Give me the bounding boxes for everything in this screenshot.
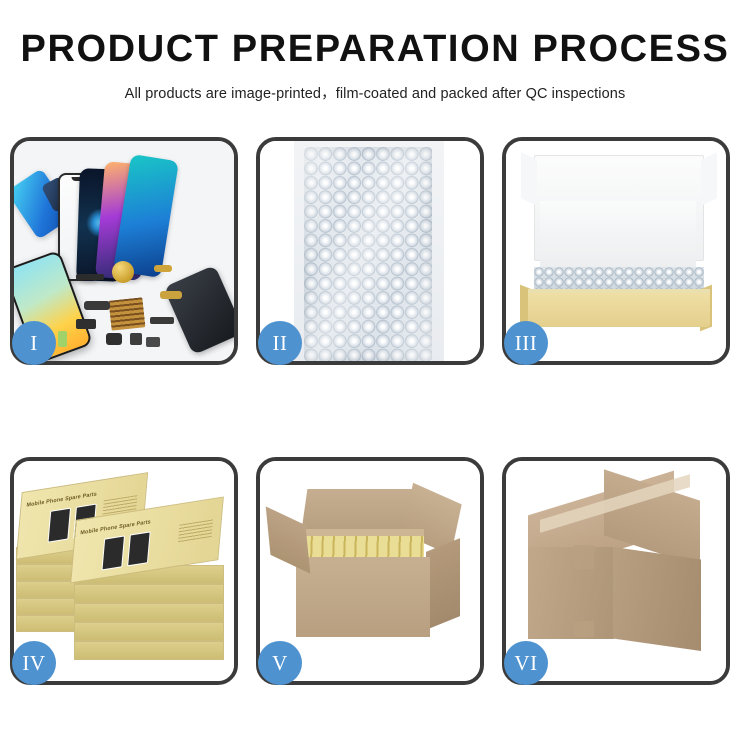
connector-part-icon	[84, 301, 110, 310]
box-spec-lines	[178, 519, 213, 543]
carton-front-left-face	[528, 547, 614, 639]
tape-tab-upper	[574, 545, 594, 569]
carton-side-face	[426, 538, 460, 630]
stacked-box-edge	[74, 603, 224, 622]
speaker-component-icon	[112, 261, 134, 283]
stacked-box-edge	[74, 641, 224, 660]
step-panel-bubble-wrap: II	[256, 137, 484, 365]
step-badge-1: I	[12, 321, 56, 365]
chip-grid-icon	[109, 297, 146, 330]
carton-front-face	[296, 557, 430, 637]
box-artwork-screen	[127, 531, 151, 566]
stacked-box-edge	[74, 622, 224, 641]
step-panel-inner-box: III	[502, 137, 730, 365]
page-header: PRODUCT PREPARATION PROCESS All products…	[0, 0, 750, 103]
step-panel-products: I	[10, 137, 238, 365]
step-badge-3: III	[504, 321, 548, 365]
step-panel-carton-loading: V	[256, 457, 484, 685]
step-panel-stacked-boxes: Mobile Phone Spare PartsMobile Phone Spa…	[10, 457, 238, 685]
button-part-icon	[146, 337, 160, 347]
ribbon-part-icon	[150, 317, 174, 324]
earpiece-part-icon	[76, 274, 104, 280]
flex-cable-2-icon	[160, 291, 182, 299]
carton-front-right-face	[613, 547, 701, 651]
battery-part-icon	[58, 331, 67, 347]
foam-sheet	[540, 201, 696, 269]
box-front-face	[528, 293, 710, 327]
small-part-icon	[76, 319, 96, 329]
step-badge-6: VI	[504, 641, 548, 685]
box-artwork-screen	[101, 535, 125, 570]
box-artwork-screen	[48, 508, 72, 543]
stacked-box-edge	[74, 584, 224, 603]
process-steps-grid: I II III Mobile Phone Spare PartsMobile …	[10, 137, 740, 685]
camera-part-icon	[106, 333, 122, 345]
step-badge-5: V	[258, 641, 302, 685]
page-subtitle: All products are image-printed，film-coat…	[0, 82, 750, 103]
bubble-sheet	[304, 147, 432, 361]
carton-rim	[296, 529, 424, 536]
phone-backplate-icon	[163, 265, 234, 355]
page-title: PRODUCT PREPARATION PROCESS	[0, 30, 750, 70]
sensor-part-icon	[130, 333, 142, 345]
tape-tab-lower	[574, 621, 594, 637]
step-panel-sealed-carton: VI	[502, 457, 730, 685]
step-badge-2: II	[258, 321, 302, 365]
step-badge-4: IV	[12, 641, 56, 685]
flex-cable-icon	[154, 265, 172, 272]
